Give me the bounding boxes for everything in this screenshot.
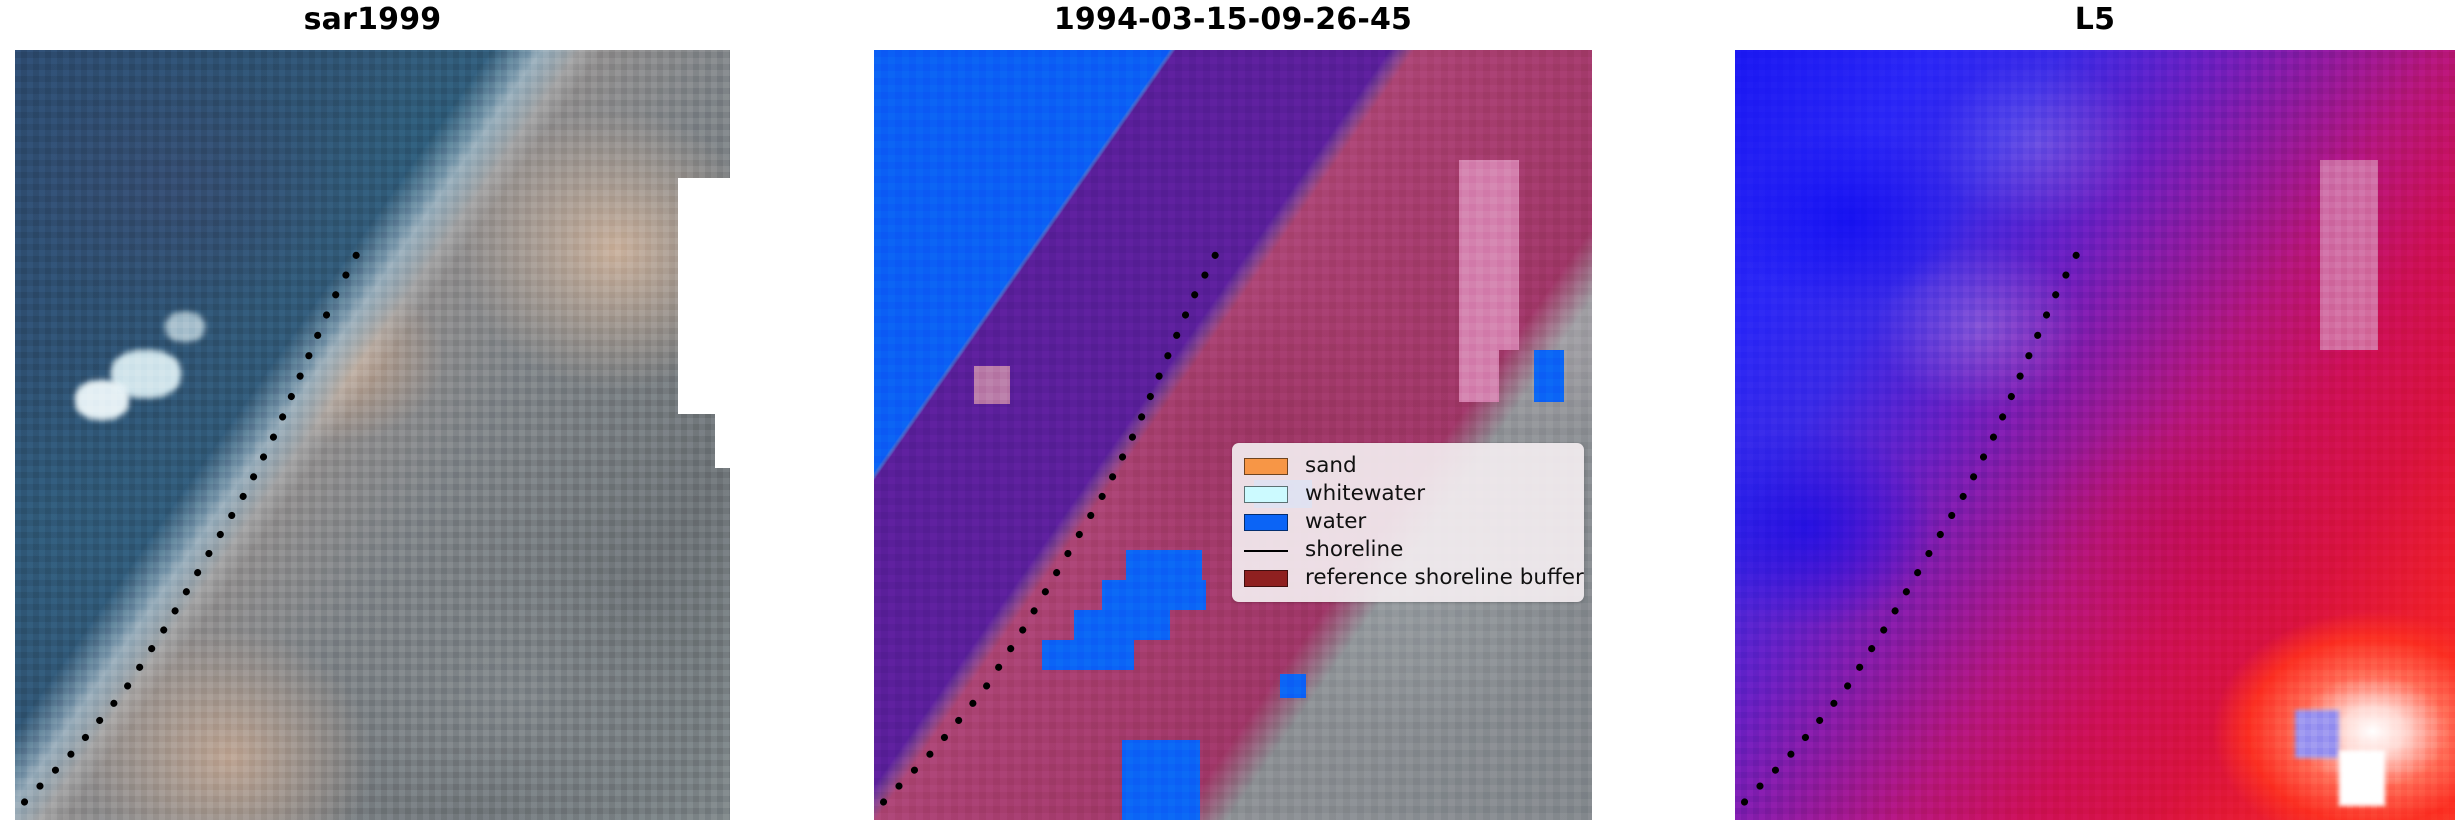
panel-title-3: L5 — [1735, 2, 2455, 37]
panel-title-2: 1994-03-15-09-26-45 — [874, 2, 1592, 37]
panel-title-1: sar1999 — [15, 2, 730, 37]
panel-classification[interactable] — [874, 50, 1592, 820]
legend-item-label: sand — [1305, 455, 1357, 477]
sand-swatch-icon — [1244, 458, 1288, 475]
figure-root: sar1999 1994-03-15-09-26-45 — [0, 0, 2460, 834]
whitewater-swatch-icon — [1244, 486, 1288, 503]
nodata-notch — [715, 178, 730, 468]
shoreline-overlay — [15, 50, 730, 820]
legend-item-water: water — [1244, 508, 1572, 536]
shoreline-line-icon — [1244, 542, 1288, 559]
legend-item-whitewater: whitewater — [1244, 480, 1572, 508]
legend-item-label: reference shoreline buffer — [1305, 567, 1584, 589]
index-heatmap-image — [1735, 50, 2455, 820]
legend-item-shoreline: shoreline — [1244, 536, 1572, 564]
shoreline-overlay — [1735, 50, 2455, 820]
legend-item-sand: sand — [1244, 452, 1572, 480]
legend-item-label: shoreline — [1305, 539, 1403, 561]
legend-item-reference-shoreline-buffer: reference shoreline buffer — [1244, 564, 1572, 592]
water-swatch-icon — [1244, 514, 1288, 531]
panel-index-heatmap[interactable] — [1735, 50, 2455, 820]
legend-item-label: whitewater — [1305, 483, 1425, 505]
legend-item-label: water — [1305, 511, 1366, 533]
panel-sar1999[interactable] — [15, 50, 730, 820]
shoreline-overlay — [874, 50, 1592, 820]
legend[interactable]: sand whitewater water shoreline referenc… — [1232, 443, 1584, 602]
satellite-image — [15, 50, 730, 820]
reference-buffer-swatch-icon — [1244, 570, 1288, 587]
classification-image — [874, 50, 1592, 820]
